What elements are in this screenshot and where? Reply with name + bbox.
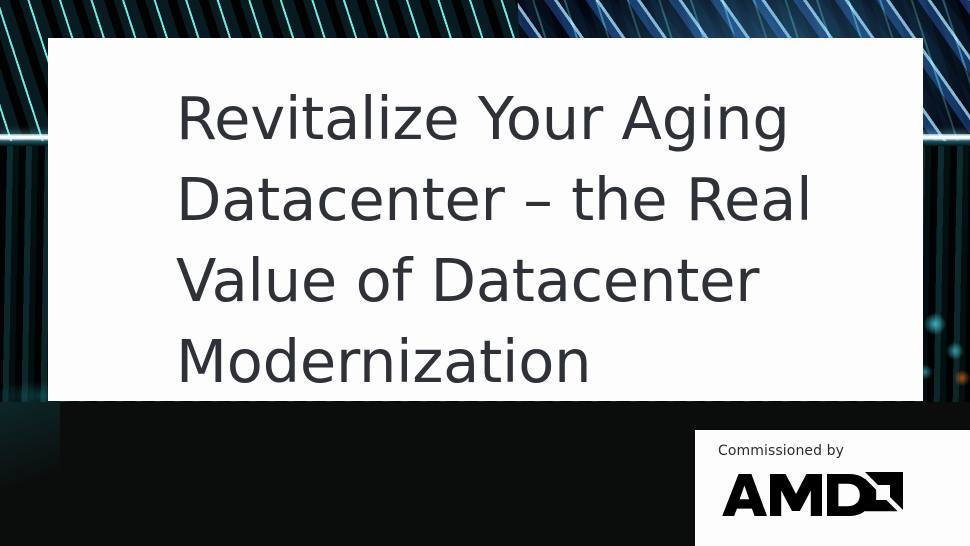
slide-canvas: Revitalize Your Aging Datacenter – the R… [0, 0, 970, 546]
page-title: Revitalize Your Aging Datacenter – the R… [176, 78, 883, 402]
sponsor-card: Commissioned by [695, 430, 970, 546]
amd-logo [718, 472, 904, 518]
commissioned-by-label: Commissioned by [718, 442, 970, 460]
title-card: Revitalize Your Aging Datacenter – the R… [48, 38, 923, 401]
